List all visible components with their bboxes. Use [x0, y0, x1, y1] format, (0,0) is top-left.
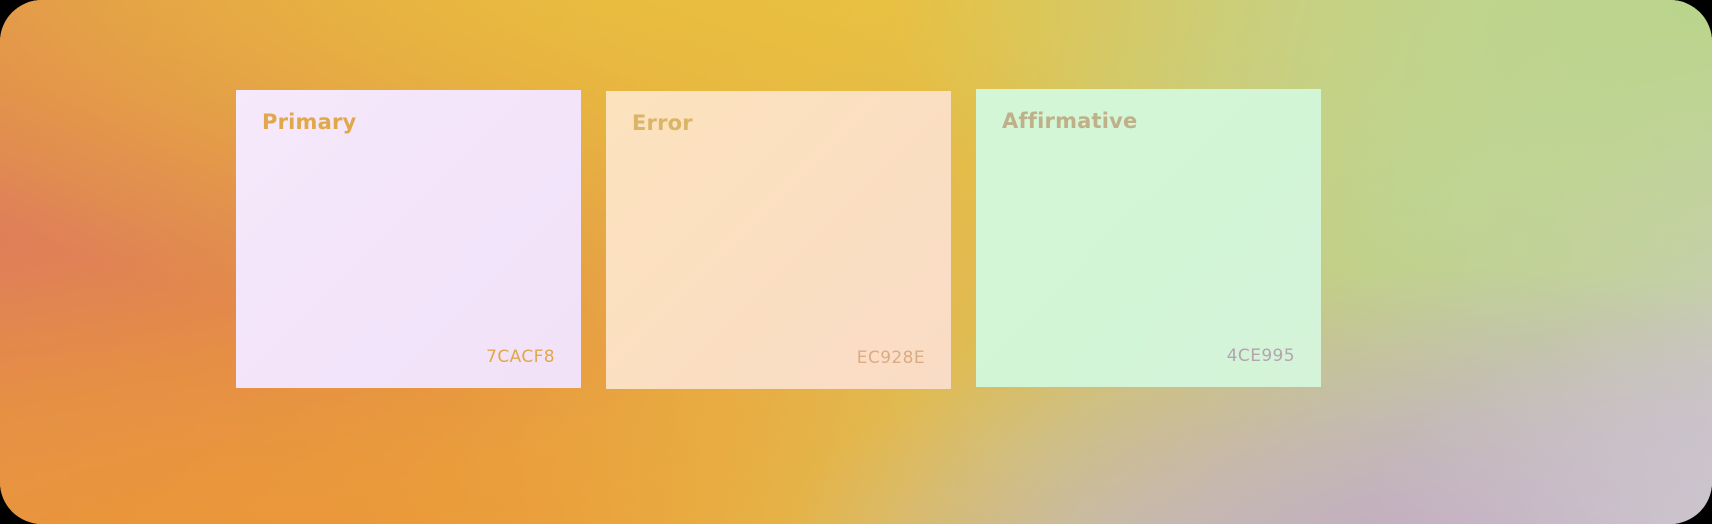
color-swatch-card-primary[interactable]: Primary 7CACF8 — [236, 90, 581, 388]
swatch-title-error: Error — [632, 113, 925, 134]
swatch-hex-affirmative: 4CE995 — [1002, 348, 1295, 365]
color-swatch-card-affirmative[interactable]: Affirmative 4CE995 — [976, 89, 1321, 387]
swatch-hex-error: EC928E — [632, 350, 925, 367]
color-palette-canvas: Primary 7CACF8 Error EC928E Affirmative … — [0, 0, 1712, 524]
swatch-title-affirmative: Affirmative — [1002, 111, 1295, 132]
swatch-hex-primary: 7CACF8 — [262, 349, 555, 366]
swatch-title-primary: Primary — [262, 112, 555, 133]
color-swatch-card-error[interactable]: Error EC928E — [606, 91, 951, 389]
